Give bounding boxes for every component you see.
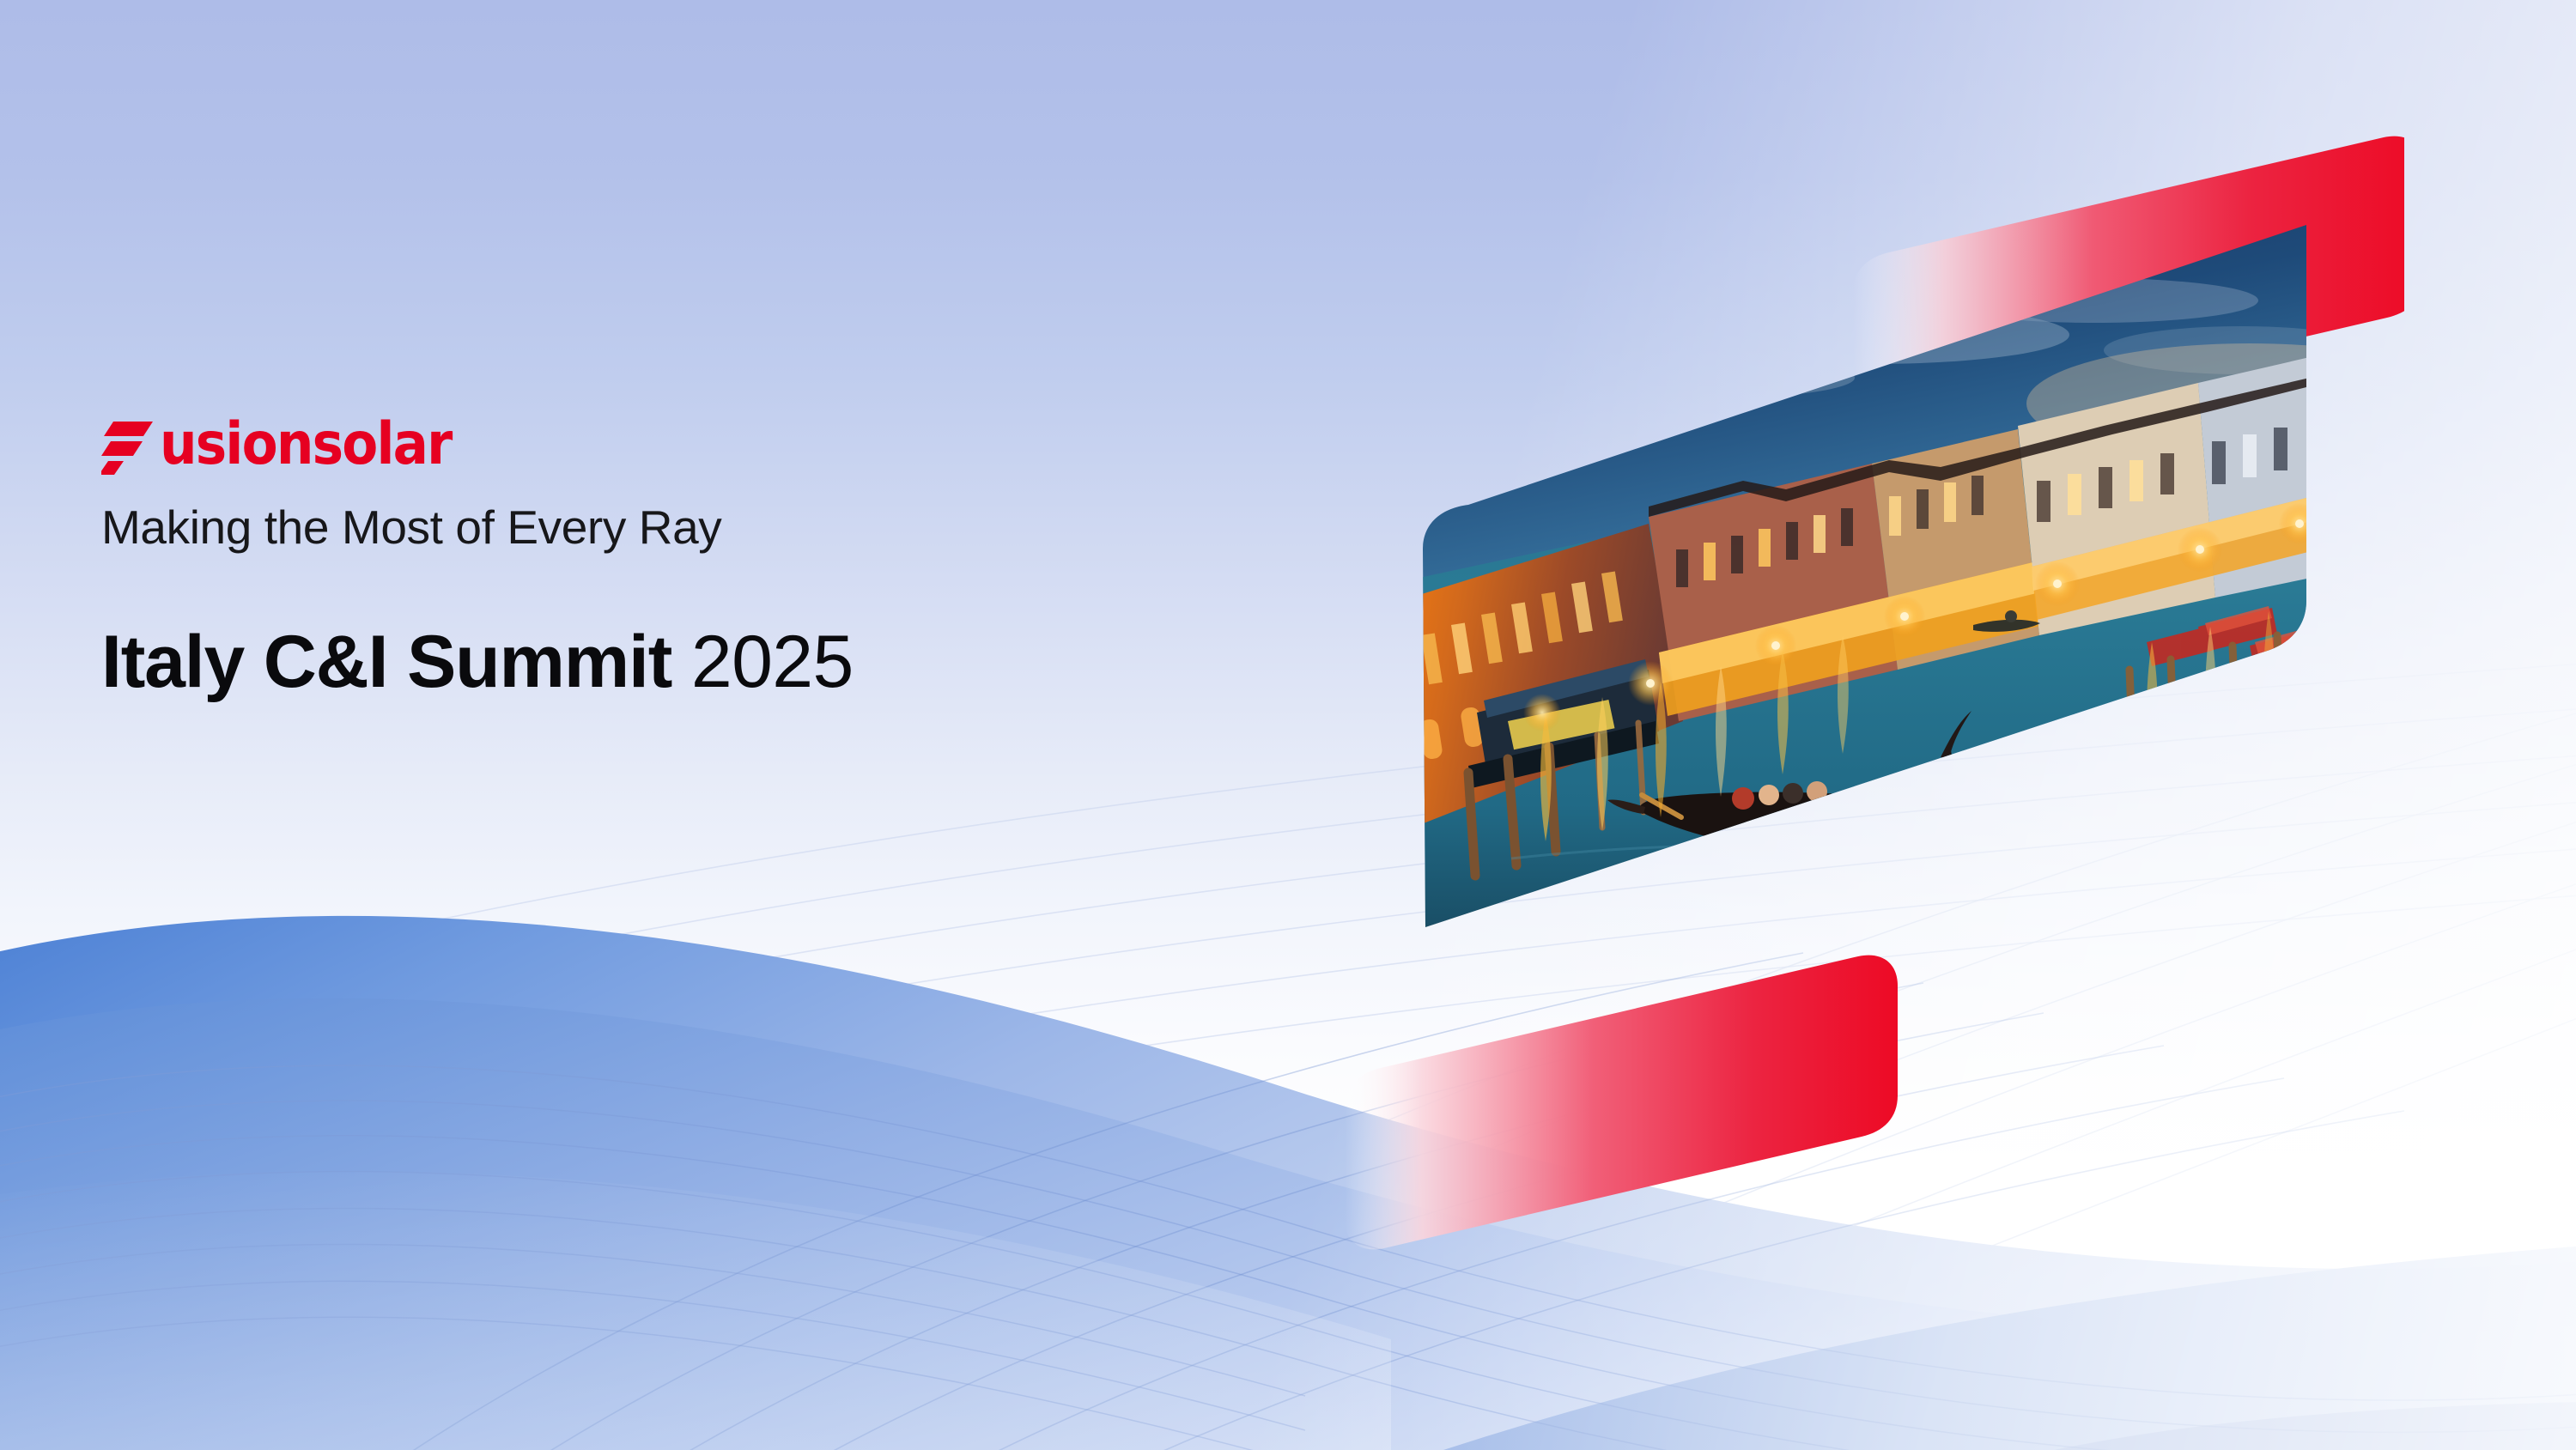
logo-wordmark: usionsolar	[160, 417, 452, 472]
presentation-slide: usionsolar Making the Most of Every Ray …	[0, 0, 2576, 1450]
headline-year: 2025	[691, 621, 854, 703]
red-ribbon-bottom	[1345, 956, 1898, 1250]
fusionsolar-f-mark	[101, 420, 155, 475]
artwork-svg	[1340, 120, 2404, 1253]
page-title: Italy C&I Summit 2025	[101, 621, 1321, 703]
headline-main: Italy C&I Summit	[101, 621, 671, 703]
fusionsolar-logo: usionsolar	[101, 417, 1321, 482]
hero-text-block: usionsolar Making the Most of Every Ray …	[101, 417, 1321, 703]
hero-artwork	[1340, 120, 2404, 1253]
tagline: Making the Most of Every Ray	[101, 501, 1321, 554]
